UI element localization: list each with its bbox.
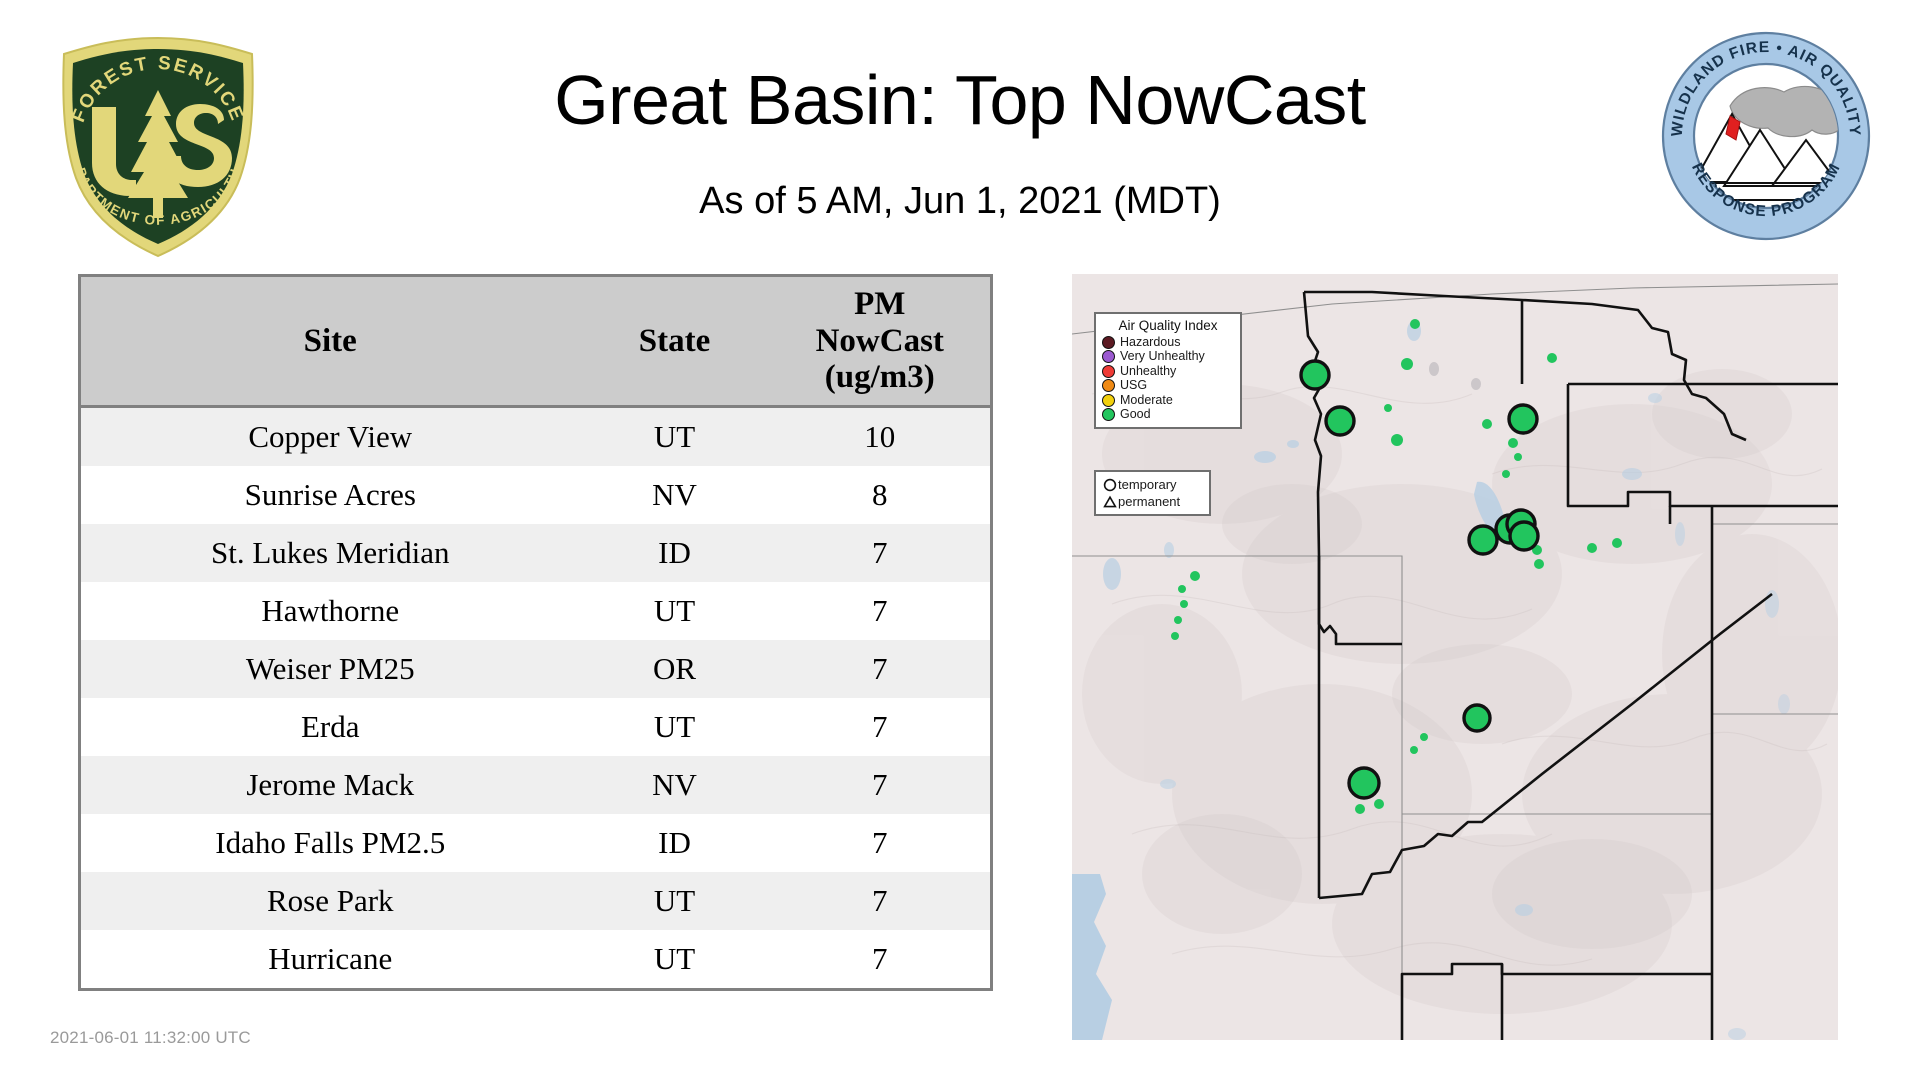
slide-canvas: FOREST SERVICE DEPARTMENT OF AGRICULTURE…: [0, 0, 1920, 1080]
map-site-marker-small[interactable]: [1547, 353, 1557, 363]
table-row: HurricaneUT7: [80, 930, 992, 990]
state-cell: ID: [580, 814, 770, 872]
nowcast-table: Site State PM NowCast (ug/m3) Copper Vie…: [78, 274, 993, 991]
column-header-state: State: [580, 276, 770, 407]
aqi-legend-label: Unhealthy: [1120, 365, 1176, 378]
map-site-marker-top[interactable]: [1469, 526, 1497, 554]
aqi-legend-title: Air Quality Index: [1102, 318, 1234, 333]
aqi-legend: Air Quality Index HazardousVery Unhealth…: [1094, 312, 1242, 429]
state-cell: UT: [580, 698, 770, 756]
table-row: HawthorneUT7: [80, 582, 992, 640]
aqi-legend-label: Hazardous: [1120, 336, 1180, 349]
site-cell: Idaho Falls PM2.5: [80, 814, 580, 872]
pm-header-line3: (ug/m3): [825, 359, 935, 395]
pm-nowcast-cell: 7: [770, 524, 992, 582]
page-subtitle: As of 5 AM, Jun 1, 2021 (MDT): [0, 180, 1920, 223]
table-row: St. Lukes MeridianID7: [80, 524, 992, 582]
map-site-marker-small[interactable]: [1374, 799, 1384, 809]
map-site-marker-small[interactable]: [1401, 358, 1413, 370]
site-type-legend: temporary permanent: [1094, 470, 1211, 516]
site-cell: St. Lukes Meridian: [80, 524, 580, 582]
table-row: Idaho Falls PM2.5ID7: [80, 814, 992, 872]
aqi-swatch-icon: [1102, 365, 1115, 378]
map-site-marker-small[interactable]: [1482, 419, 1492, 429]
temporary-circle-icon: [1101, 478, 1118, 492]
pm-nowcast-cell: 7: [770, 872, 992, 930]
aqi-swatch-icon: [1102, 350, 1115, 363]
map-site-marker-small[interactable]: [1180, 600, 1188, 608]
aqi-legend-row: Unhealthy: [1102, 364, 1234, 379]
site-cell: Erda: [80, 698, 580, 756]
site-cell: Hawthorne: [80, 582, 580, 640]
map-site-marker-small[interactable]: [1355, 804, 1365, 814]
state-cell: UT: [580, 872, 770, 930]
aqi-swatch-icon: [1102, 408, 1115, 421]
map-site-marker-top[interactable]: [1349, 768, 1379, 798]
wfaqrp-seal-logo: WILDLAND FIRE • AIR QUALITY RESPONSE PRO…: [1660, 30, 1872, 242]
state-cell: UT: [580, 407, 770, 467]
map-site-marker-small[interactable]: [1612, 538, 1622, 548]
map-site-marker-small[interactable]: [1190, 571, 1200, 581]
table-row: Copper ViewUT10: [80, 407, 992, 467]
table-body: Copper ViewUT10Sunrise AcresNV8St. Lukes…: [80, 407, 992, 990]
map-site-marker-small[interactable]: [1502, 470, 1510, 478]
page-title: Great Basin: Top NowCast: [0, 60, 1920, 140]
map-site-marker-top[interactable]: [1301, 361, 1329, 389]
footer-timestamp: 2021-06-01 11:32:00 UTC: [50, 1028, 251, 1048]
pm-nowcast-cell: 7: [770, 698, 992, 756]
state-cell: NV: [580, 466, 770, 524]
map-site-marker-top[interactable]: [1326, 407, 1354, 435]
map-site-marker-small[interactable]: [1178, 585, 1186, 593]
air-quality-map[interactable]: Air Quality Index HazardousVery Unhealth…: [1072, 274, 1838, 1040]
site-cell: Copper View: [80, 407, 580, 467]
aqi-legend-row: Hazardous: [1102, 335, 1234, 350]
map-site-marker-small[interactable]: [1534, 559, 1544, 569]
pm-nowcast-cell: 10: [770, 407, 992, 467]
pm-nowcast-cell: 8: [770, 466, 992, 524]
table-header-row: Site State PM NowCast (ug/m3): [80, 276, 992, 407]
aqi-legend-row: Good: [1102, 408, 1234, 423]
aqi-legend-items: HazardousVery UnhealthyUnhealthyUSGModer…: [1102, 335, 1234, 422]
pm-nowcast-cell: 7: [770, 756, 992, 814]
aqi-legend-label: USG: [1120, 379, 1147, 392]
map-site-marker-small[interactable]: [1587, 543, 1597, 553]
aqi-swatch-icon: [1102, 336, 1115, 349]
column-header-pm-nowcast: PM NowCast (ug/m3): [770, 276, 992, 407]
state-cell: UT: [580, 582, 770, 640]
map-site-marker-small[interactable]: [1174, 616, 1182, 624]
nowcast-table-container: Site State PM NowCast (ug/m3) Copper Vie…: [78, 274, 990, 991]
state-cell: UT: [580, 930, 770, 990]
map-site-marker-top[interactable]: [1509, 405, 1537, 433]
legend-row-permanent: permanent: [1101, 493, 1204, 510]
map-site-marker-small[interactable]: [1508, 438, 1518, 448]
column-header-site: Site: [80, 276, 580, 407]
site-cell: Rose Park: [80, 872, 580, 930]
pm-header-line1: PM: [854, 286, 905, 322]
aqi-legend-row: USG: [1102, 379, 1234, 394]
map-site-marker-top[interactable]: [1510, 522, 1538, 550]
pm-nowcast-cell: 7: [770, 582, 992, 640]
map-site-marker-small[interactable]: [1384, 404, 1392, 412]
site-cell: Weiser PM25: [80, 640, 580, 698]
aqi-legend-label: Good: [1120, 408, 1151, 421]
map-site-marker-small[interactable]: [1410, 746, 1418, 754]
aqi-swatch-icon: [1102, 379, 1115, 392]
state-cell: NV: [580, 756, 770, 814]
state-cell: ID: [580, 524, 770, 582]
pm-nowcast-cell: 7: [770, 640, 992, 698]
aqi-swatch-icon: [1102, 394, 1115, 407]
legend-label-temporary: temporary: [1118, 478, 1177, 492]
map-site-marker-small[interactable]: [1391, 434, 1403, 446]
pm-header-line2: NowCast: [816, 323, 944, 359]
table-row: Weiser PM25OR7: [80, 640, 992, 698]
aqi-legend-label: Moderate: [1120, 394, 1173, 407]
aqi-legend-row: Moderate: [1102, 393, 1234, 408]
legend-label-permanent: permanent: [1118, 495, 1180, 509]
table-row: Jerome MackNV7: [80, 756, 992, 814]
map-site-marker-top[interactable]: [1464, 705, 1490, 731]
aqi-legend-row: Very Unhealthy: [1102, 350, 1234, 365]
permanent-triangle-icon: [1101, 495, 1118, 509]
map-site-marker-small[interactable]: [1420, 733, 1428, 741]
table-row: Sunrise AcresNV8: [80, 466, 992, 524]
legend-row-temporary: temporary: [1101, 476, 1204, 493]
map-site-marker-small[interactable]: [1410, 319, 1420, 329]
table-row: Rose ParkUT7: [80, 872, 992, 930]
aqi-legend-label: Very Unhealthy: [1120, 350, 1205, 363]
map-site-marker-small[interactable]: [1514, 453, 1522, 461]
pm-nowcast-cell: 7: [770, 814, 992, 872]
site-cell: Hurricane: [80, 930, 580, 990]
site-cell: Sunrise Acres: [80, 466, 580, 524]
state-cell: OR: [580, 640, 770, 698]
pm-nowcast-cell: 7: [770, 930, 992, 990]
table-row: ErdaUT7: [80, 698, 992, 756]
map-site-marker-small[interactable]: [1171, 632, 1179, 640]
site-cell: Jerome Mack: [80, 756, 580, 814]
